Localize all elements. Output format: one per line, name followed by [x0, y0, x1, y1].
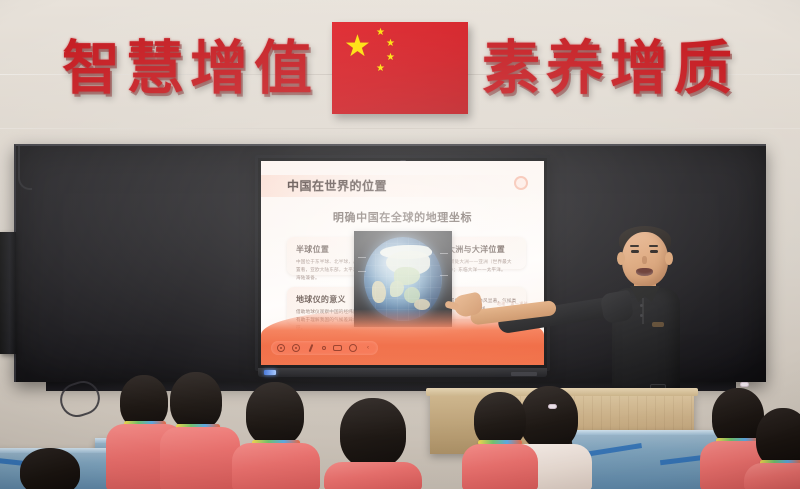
scene-vignette: [0, 0, 800, 489]
classroom-scene: 智慧增值 ★ ★ ★ ★ ★ 素养增质 中国在世界的位置 明确中国在全球的地理坐…: [0, 0, 800, 489]
